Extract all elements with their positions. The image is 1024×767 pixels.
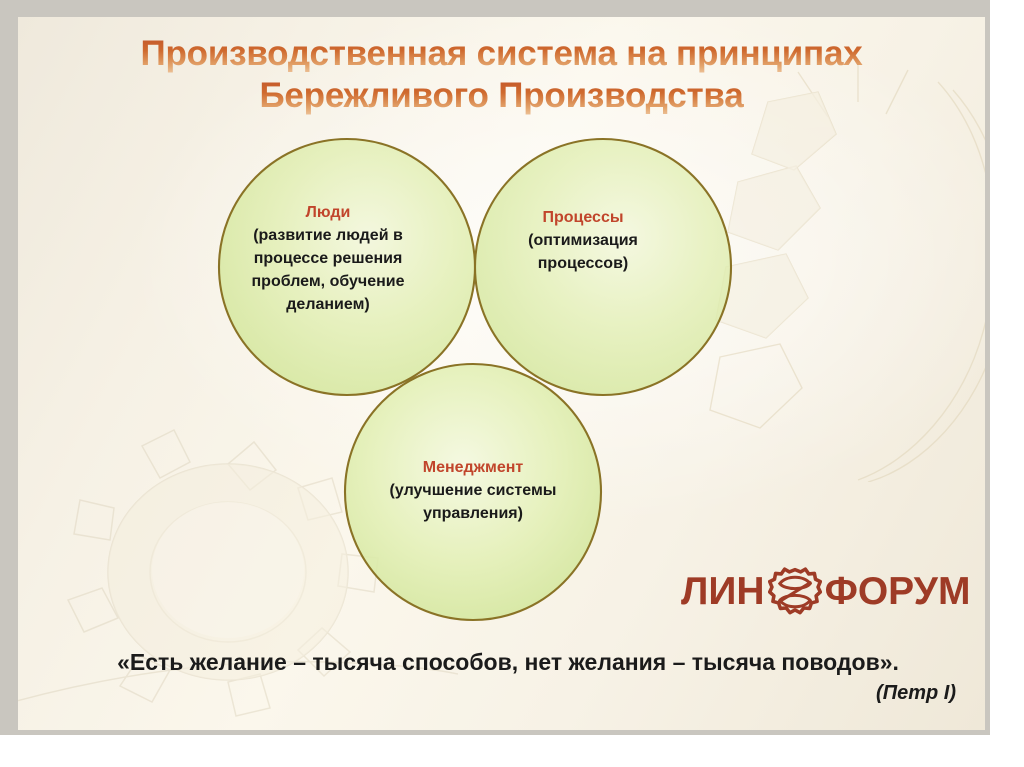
venn-label-people-line-3: проблем, обучение: [208, 270, 448, 293]
venn-label-management-line-1: (улучшение системы: [343, 479, 603, 502]
venn-label-processes-line-2: процессов): [473, 252, 693, 275]
venn-label-people: Люди (развитие людей в процессе решения …: [208, 202, 448, 316]
lean-forum-logo: ЛИН ФОРУМ: [681, 565, 970, 619]
gear-icon: [768, 565, 822, 619]
screenshot-stage: Производственная система на принципах Бе…: [0, 0, 1024, 767]
slide-canvas: Производственная система на принципах Бе…: [18, 17, 985, 730]
quote-attribution: (Петр I): [38, 679, 978, 707]
venn-label-management: Менеджмент (улучшение системы управления…: [343, 457, 603, 525]
venn-label-people-line-2: процессе решения: [208, 247, 448, 270]
venn-label-management-line-2: управления): [343, 502, 603, 525]
venn-label-processes: Процессы (оптимизация процессов): [473, 207, 693, 275]
venn-label-management-heading: Менеджмент: [343, 457, 603, 479]
venn-label-people-heading: Люди: [208, 202, 448, 224]
quote-block: «Есть желание – тысяча способов, нет жел…: [38, 647, 978, 707]
venn-label-processes-line-1: (оптимизация: [473, 229, 693, 252]
slide-title: Производственная система на принципах Бе…: [18, 33, 985, 117]
venn-label-people-line-4: деланием): [208, 293, 448, 316]
quote-text: «Есть желание – тысяча способов, нет жел…: [38, 647, 978, 677]
title-line-2: Бережливого Производства: [18, 75, 985, 117]
logo-word-forum: ФОРУМ: [825, 571, 971, 613]
venn-diagram: [18, 17, 985, 730]
venn-label-people-line-1: (развитие людей в: [208, 224, 448, 247]
title-line-1: Производственная система на принципах: [18, 33, 985, 75]
venn-label-processes-heading: Процессы: [473, 207, 693, 229]
logo-word-lin: ЛИН: [681, 571, 765, 613]
